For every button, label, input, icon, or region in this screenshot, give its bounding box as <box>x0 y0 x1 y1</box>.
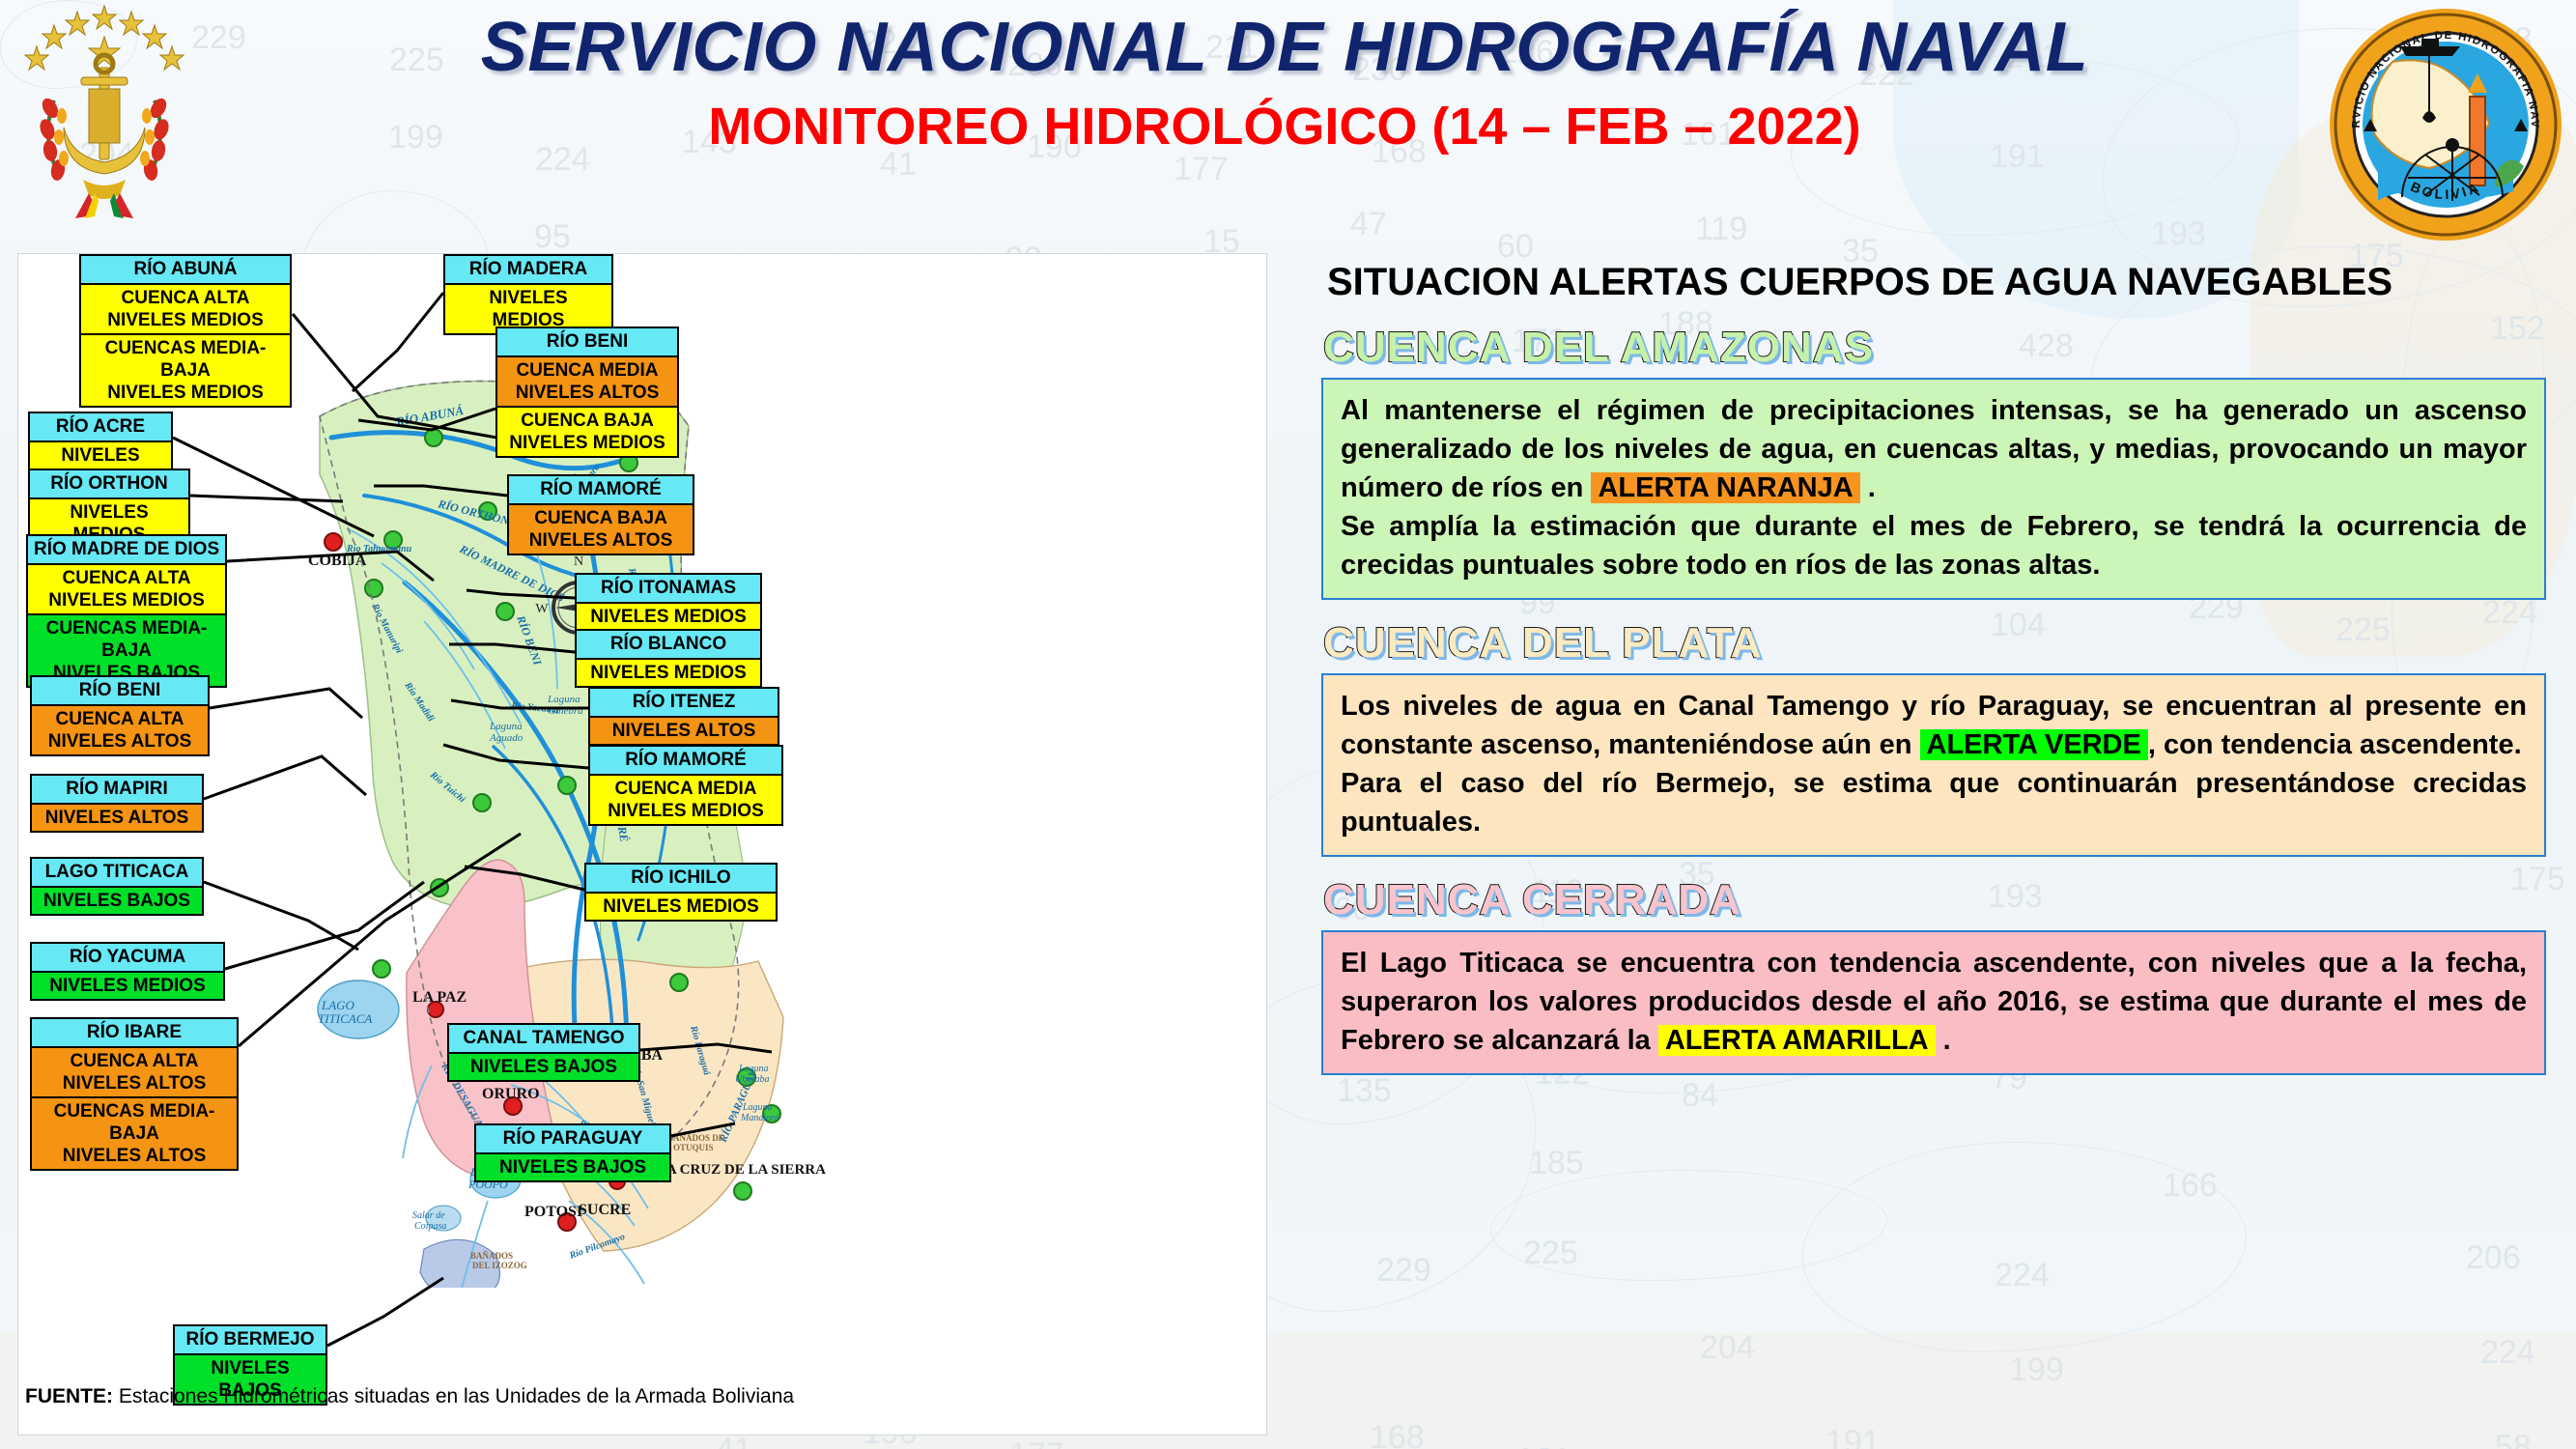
river-label-rio-itenez: RÍO ITENEZNIVELES ALTOS <box>588 687 779 746</box>
river-label-rio-blanco: RÍO BLANCONIVELES MEDIOS <box>575 629 762 688</box>
river-label-title: RÍO ICHILO <box>586 865 776 894</box>
river-label-rio-abuna: RÍO ABUNÁCUENCA ALTANIVELES MEDIOSCUENCA… <box>79 254 292 408</box>
section-paragraph: Al mantenerse el régimen de precipitacio… <box>1341 391 2527 507</box>
river-label-title: RÍO IBARE <box>32 1019 237 1048</box>
river-label-title: LAGO TITICACA <box>32 859 202 888</box>
river-label-title: RÍO MADRE DE DIOS <box>28 536 225 565</box>
river-label-title: RÍO MAMORÉ <box>590 747 781 776</box>
river-label-rio-ibare: RÍO IBARECUENCA ALTANIVELES ALTOSCUENCAS… <box>30 1017 239 1171</box>
river-level-row: CUENCA ALTANIVELES MEDIOS <box>28 565 225 615</box>
river-label-title: RÍO BENI <box>32 677 208 706</box>
svg-text:Río Tahuamanu: Río Tahuamanu <box>346 544 412 554</box>
alerts-panel: SITUACION ALERTAS CUERPOS DE AGUA NAVEGA… <box>1304 261 2560 1449</box>
river-label-rio-ichilo: RÍO ICHILONIVELES MEDIOS <box>584 863 778 922</box>
section-heading-amazonas: CUENCA DEL AMAZONAS <box>1323 324 2560 372</box>
svg-text:SUCRE: SUCRE <box>579 1202 631 1218</box>
section-paragraph: Se amplía la estimación que durante el m… <box>1341 507 2527 584</box>
section-paragraph: Los niveles de agua en Canal Tamengo y r… <box>1341 687 2527 764</box>
map-panel: COBIJA TRINIDAD LA PAZ COCHABAMBA ORURO … <box>17 253 1267 1435</box>
section-paragraph: Para el caso del río Bermejo, se estima … <box>1341 764 2527 841</box>
river-label-rio-madre-de-dios: RÍO MADRE DE DIOSCUENCA ALTANIVELES MEDI… <box>26 534 227 688</box>
river-level-row: CUENCA BAJANIVELES MEDIOS <box>497 408 677 456</box>
snhn-seal-icon: SERVICIO NACIONAL DE HIDROGRAFIA NAVAL B… <box>2325 4 2566 245</box>
river-level-row: NIVELES BAJOS <box>476 1154 669 1180</box>
source-text: Estaciones Hidrométricas situadas en las… <box>119 1385 794 1407</box>
river-level-row: CUENCAS MEDIA-BAJANIVELES MEDIOS <box>81 335 290 406</box>
svg-text:Laguna: Laguna <box>547 694 580 705</box>
svg-text:Laguna: Laguna <box>742 1102 773 1113</box>
river-level-row: NIVELES BAJOS <box>449 1054 638 1080</box>
river-level-row: NIVELES MEDIOS <box>32 973 223 999</box>
svg-text:POTOSI: POTOSI <box>524 1204 582 1220</box>
river-label-rio-mamore-baja: RÍO MAMORÉCUENCA BAJANIVELES ALTOS <box>507 474 694 555</box>
river-level-row: NIVELES MEDIOS <box>577 604 760 630</box>
svg-text:LA PAZ: LA PAZ <box>412 989 467 1006</box>
river-label-title: RÍO BENI <box>497 328 677 357</box>
river-label-canal-tamengo: CANAL TAMENGONIVELES BAJOS <box>447 1023 640 1082</box>
river-level-row: CUENCA ALTANIVELES ALTOS <box>32 706 208 754</box>
river-label-rio-mamore-media: RÍO MAMORÉCUENCA MEDIANIVELES MEDIOS <box>588 745 783 826</box>
river-level-row: CUENCA BAJANIVELES ALTOS <box>509 505 693 554</box>
river-label-title: RÍO BLANCO <box>577 631 760 660</box>
river-label-rio-itonamas: RÍO ITONAMASNIVELES MEDIOS <box>575 573 762 632</box>
river-level-row: CUENCAS MEDIA-BAJANIVELES ALTOS <box>32 1098 237 1169</box>
river-label-title: RÍO MADERA <box>445 256 611 285</box>
section-paragraph: El Lago Titicaca se encuentra con tenden… <box>1341 944 2527 1060</box>
river-label-title: RÍO YACUMA <box>32 944 223 973</box>
alerts-heading: SITUACION ALERTAS CUERPOS DE AGUA NAVEGA… <box>1327 261 2560 304</box>
river-label-title: RÍO ITENEZ <box>590 689 778 718</box>
page-subtitle: MONITOREO HIDROLÓGICO (14 – FEB – 2022) <box>290 97 2279 156</box>
river-level-row: CUENCA ALTANIVELES ALTOS <box>32 1048 237 1098</box>
source-note: FUENTE: Estaciones Hidrométricas situada… <box>25 1385 794 1408</box>
river-label-title: RÍO PARAGUAY <box>476 1125 669 1154</box>
svg-text:DEL IZOZOG: DEL IZOZOG <box>472 1261 527 1270</box>
river-level-row: NIVELES BAJOS <box>32 888 202 914</box>
svg-text:LAGO: LAGO <box>321 998 355 1012</box>
compass-w: W <box>535 602 549 616</box>
river-level-row: NIVELES MEDIOS <box>586 894 776 920</box>
svg-text:BAÑADOS: BAÑADOS <box>470 1251 513 1261</box>
svg-text:OTUQUIS: OTUQUIS <box>673 1143 714 1152</box>
river-level-row: CUENCA MEDIANIVELES ALTOS <box>497 357 677 408</box>
bolivian-naval-crest-icon <box>8 0 201 222</box>
river-label-title: RÍO ACRE <box>30 413 171 442</box>
river-label-rio-beni-alta: RÍO BENICUENCA ALTANIVELES ALTOS <box>30 675 210 756</box>
alert-highlight: ALERTA AMARILLA <box>1658 1025 1936 1056</box>
river-level-row: CUENCA ALTANIVELES MEDIOS <box>81 285 290 335</box>
svg-text:Aguado: Aguado <box>489 732 524 744</box>
section-panel-cerrada: El Lago Titicaca se encuentra con tenden… <box>1321 930 2546 1075</box>
river-level-row: NIVELES MEDIOS <box>577 660 760 686</box>
alert-highlight: ALERTA VERDE <box>1920 729 2148 760</box>
source-prefix: FUENTE: <box>25 1385 113 1407</box>
section-panel-plata: Los niveles de agua en Canal Tamengo y r… <box>1321 673 2546 857</box>
river-label-rio-madera: RÍO MADERANIVELES MEDIOS <box>443 254 613 335</box>
svg-text:TITICACA: TITICACA <box>318 1011 372 1026</box>
svg-text:Coipasa: Coipasa <box>414 1221 446 1232</box>
river-label-title: CANAL TAMENGO <box>449 1025 638 1054</box>
page-title: SERVICIO NACIONAL DE HIDROGRAFÍA NAVAL <box>290 8 2279 87</box>
svg-text:Mandioré: Mandioré <box>740 1113 779 1123</box>
section-heading-cerrada: CUENCA CERRADA <box>1323 876 2560 924</box>
page-header: SERVICIO NACIONAL DE HIDROGRAFÍA NAVAL M… <box>0 0 2576 155</box>
river-level-row: NIVELES ALTOS <box>32 805 202 831</box>
svg-text:Salar de: Salar de <box>412 1210 445 1221</box>
compass-n: N <box>574 554 583 569</box>
river-label-title: RÍO ORTHON <box>30 470 188 499</box>
river-label-rio-yacuma: RÍO YACUMANIVELES MEDIOS <box>30 942 225 1001</box>
svg-text:COBIJA: COBIJA <box>308 553 367 569</box>
river-label-rio-paraguay: RÍO PARAGUAYNIVELES BAJOS <box>474 1123 671 1182</box>
svg-text:BAÑADOS DE: BAÑADOS DE <box>667 1133 724 1143</box>
river-label-lago-titicaca: LAGO TITICACANIVELES BAJOS <box>30 857 204 916</box>
river-label-title: RÍO BERMEJO <box>175 1326 326 1355</box>
river-label-rio-beni-media: RÍO BENICUENCA MEDIANIVELES ALTOSCUENCA … <box>495 327 679 458</box>
river-level-row: CUENCA MEDIANIVELES MEDIOS <box>590 776 781 824</box>
section-heading-plata: CUENCA DEL PLATA <box>1323 619 2560 668</box>
alert-highlight: ALERTA NARANJA <box>1591 472 1859 503</box>
river-label-title: RÍO ITONAMAS <box>577 575 760 604</box>
river-label-title: RÍO MAPIRI <box>32 776 202 805</box>
svg-text:Laguna: Laguna <box>489 721 523 732</box>
river-label-rio-mapiri: RÍO MAPIRINIVELES ALTOS <box>30 774 204 833</box>
section-panel-amazonas: Al mantenerse el régimen de precipitacio… <box>1321 378 2546 600</box>
river-label-title: RÍO MAMORÉ <box>509 476 693 505</box>
river-level-row: NIVELES ALTOS <box>590 718 778 744</box>
svg-text:ORURO: ORURO <box>482 1086 540 1102</box>
river-label-title: RÍO ABUNÁ <box>81 256 290 285</box>
